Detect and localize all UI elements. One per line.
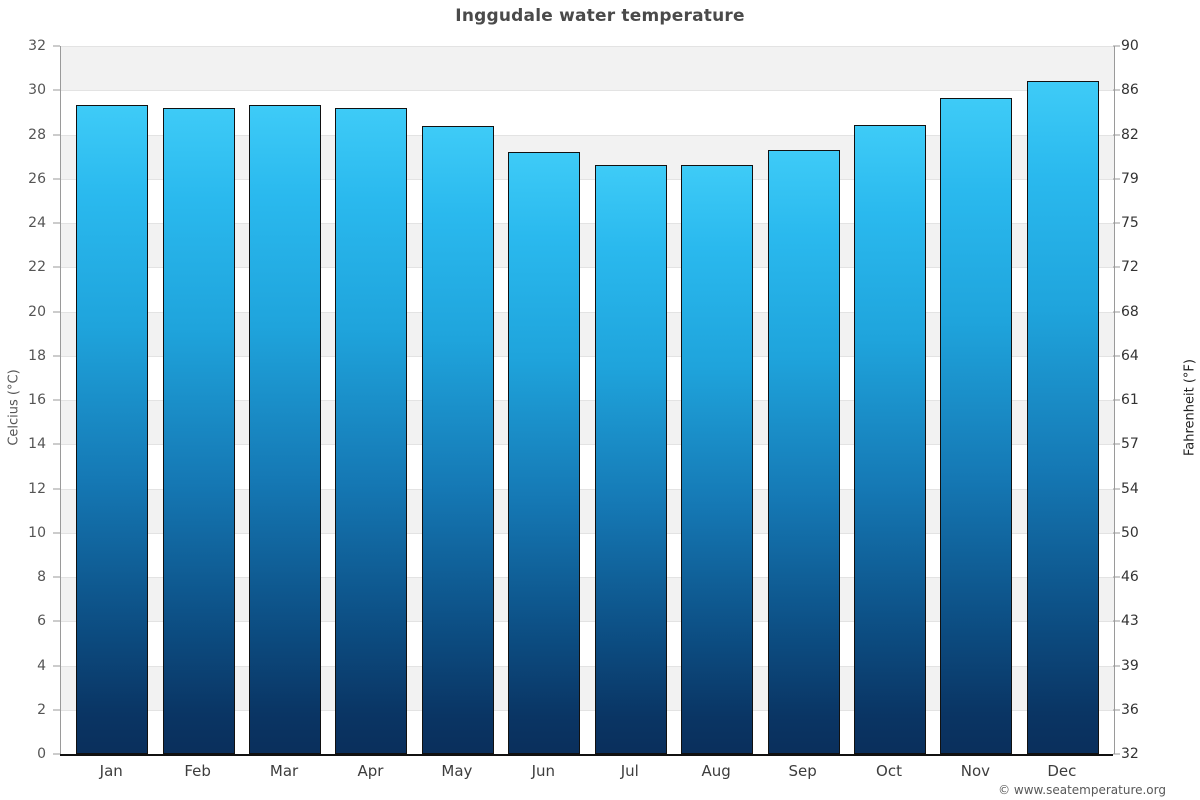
x-tick-label-jul: Jul [587, 758, 673, 788]
y-tick-mark-celsius [53, 444, 60, 445]
y-tick-mark-celsius [53, 90, 60, 91]
bar-mar[interactable] [249, 105, 321, 754]
source-watermark: © www.seatemperature.org [998, 783, 1166, 797]
bar-slot [760, 46, 846, 754]
y-tick-mark-fahrenheit [1113, 532, 1120, 533]
y-tick-label-celsius: 2 [0, 702, 52, 718]
y-tick-mark-fahrenheit [1113, 90, 1120, 91]
y-tick-label-celsius: 22 [0, 259, 52, 275]
bar-slot [588, 46, 674, 754]
y-axis-fahrenheit-title: Fahrenheit (°F) [1183, 338, 1198, 478]
y-tick-mark-fahrenheit [1113, 665, 1120, 666]
x-tick-label-feb: Feb [154, 758, 240, 788]
bar-jun[interactable] [508, 152, 580, 754]
bar-slot [69, 46, 155, 754]
y-tick-mark-celsius [53, 134, 60, 135]
bar-nov[interactable] [940, 98, 1012, 754]
y-tick-mark-fahrenheit [1113, 46, 1120, 47]
y-tick-mark-celsius [53, 488, 60, 489]
y-tick-label-celsius: 28 [0, 127, 52, 143]
bar-dec[interactable] [1027, 81, 1099, 754]
y-axis-fahrenheit-ticks: 3236394346505457616468727579828690 [1113, 46, 1161, 754]
y-tick-mark-celsius [53, 400, 60, 401]
bar-jan[interactable] [76, 105, 148, 754]
bar-slot [415, 46, 501, 754]
y-tick-mark-fahrenheit [1113, 444, 1120, 445]
y-tick-mark-fahrenheit [1113, 311, 1120, 312]
y-tick-mark-fahrenheit [1113, 488, 1120, 489]
bar-slot [674, 46, 760, 754]
y-tick-mark-fahrenheit [1113, 577, 1120, 578]
bar-may[interactable] [422, 126, 494, 754]
y-tick-mark-celsius [53, 754, 60, 755]
x-tick-label-may: May [414, 758, 500, 788]
bar-slot [501, 46, 587, 754]
x-axis-line [60, 754, 1113, 756]
y-tick-mark-celsius [53, 709, 60, 710]
y-tick-mark-celsius [53, 267, 60, 268]
x-tick-label-mar: Mar [241, 758, 327, 788]
y-tick-label-celsius: 32 [0, 38, 52, 54]
y-tick-mark-celsius [53, 223, 60, 224]
y-tick-mark-fahrenheit [1113, 267, 1120, 268]
y-tick-mark-celsius [53, 355, 60, 356]
y-tick-mark-fahrenheit [1113, 178, 1120, 179]
water-temperature-chart: Inggudale water temperature 024681012141… [0, 0, 1200, 800]
x-tick-label-apr: Apr [327, 758, 413, 788]
y-axis-celsius-title: Celcius (°C) [7, 348, 22, 468]
x-tick-label-sep: Sep [759, 758, 845, 788]
y-tick-mark-celsius [53, 311, 60, 312]
x-tick-label-jun: Jun [500, 758, 586, 788]
y-tick-label-celsius: 24 [0, 215, 52, 231]
plot-area [60, 46, 1115, 754]
y-tick-mark-fahrenheit [1113, 134, 1120, 135]
y-tick-mark-fahrenheit [1113, 355, 1120, 356]
bar-sep[interactable] [768, 150, 840, 754]
y-tick-mark-fahrenheit [1113, 621, 1120, 622]
bar-jul[interactable] [595, 165, 667, 754]
y-tick-label-celsius: 0 [0, 746, 52, 762]
y-tick-mark-fahrenheit [1113, 223, 1120, 224]
y-tick-mark-fahrenheit [1113, 709, 1120, 710]
x-tick-label-jan: Jan [68, 758, 154, 788]
y-tick-mark-celsius [53, 621, 60, 622]
bar-slot [155, 46, 241, 754]
y-tick-label-celsius: 4 [0, 658, 52, 674]
y-tick-label-celsius: 26 [0, 171, 52, 187]
y-tick-mark-celsius [53, 532, 60, 533]
bar-slot [242, 46, 328, 754]
bar-slot [1020, 46, 1106, 754]
x-tick-label-aug: Aug [673, 758, 759, 788]
y-tick-label-celsius: 20 [0, 304, 52, 320]
chart-title: Inggudale water temperature [0, 6, 1200, 26]
y-tick-label-celsius: 10 [0, 525, 52, 541]
y-tick-label-celsius: 12 [0, 481, 52, 497]
bar-aug[interactable] [681, 165, 753, 754]
bar-slot [847, 46, 933, 754]
y-tick-mark-celsius [53, 178, 60, 179]
y-tick-mark-fahrenheit [1113, 754, 1120, 755]
y-tick-mark-celsius [53, 665, 60, 666]
y-tick-mark-celsius [53, 577, 60, 578]
y-tick-mark-celsius [53, 46, 60, 47]
y-tick-label-celsius: 30 [0, 82, 52, 98]
x-axis-month-labels: JanFebMarAprMayJunJulAugSepOctNovDec [60, 758, 1113, 788]
y-tick-label-celsius: 8 [0, 569, 52, 585]
bar-series [61, 46, 1114, 754]
y-tick-label-celsius: 6 [0, 613, 52, 629]
bar-oct[interactable] [854, 125, 926, 754]
bar-feb[interactable] [163, 108, 235, 754]
bar-apr[interactable] [335, 108, 407, 754]
y-tick-mark-fahrenheit [1113, 400, 1120, 401]
bar-slot [328, 46, 414, 754]
x-tick-label-oct: Oct [846, 758, 932, 788]
bar-slot [933, 46, 1019, 754]
